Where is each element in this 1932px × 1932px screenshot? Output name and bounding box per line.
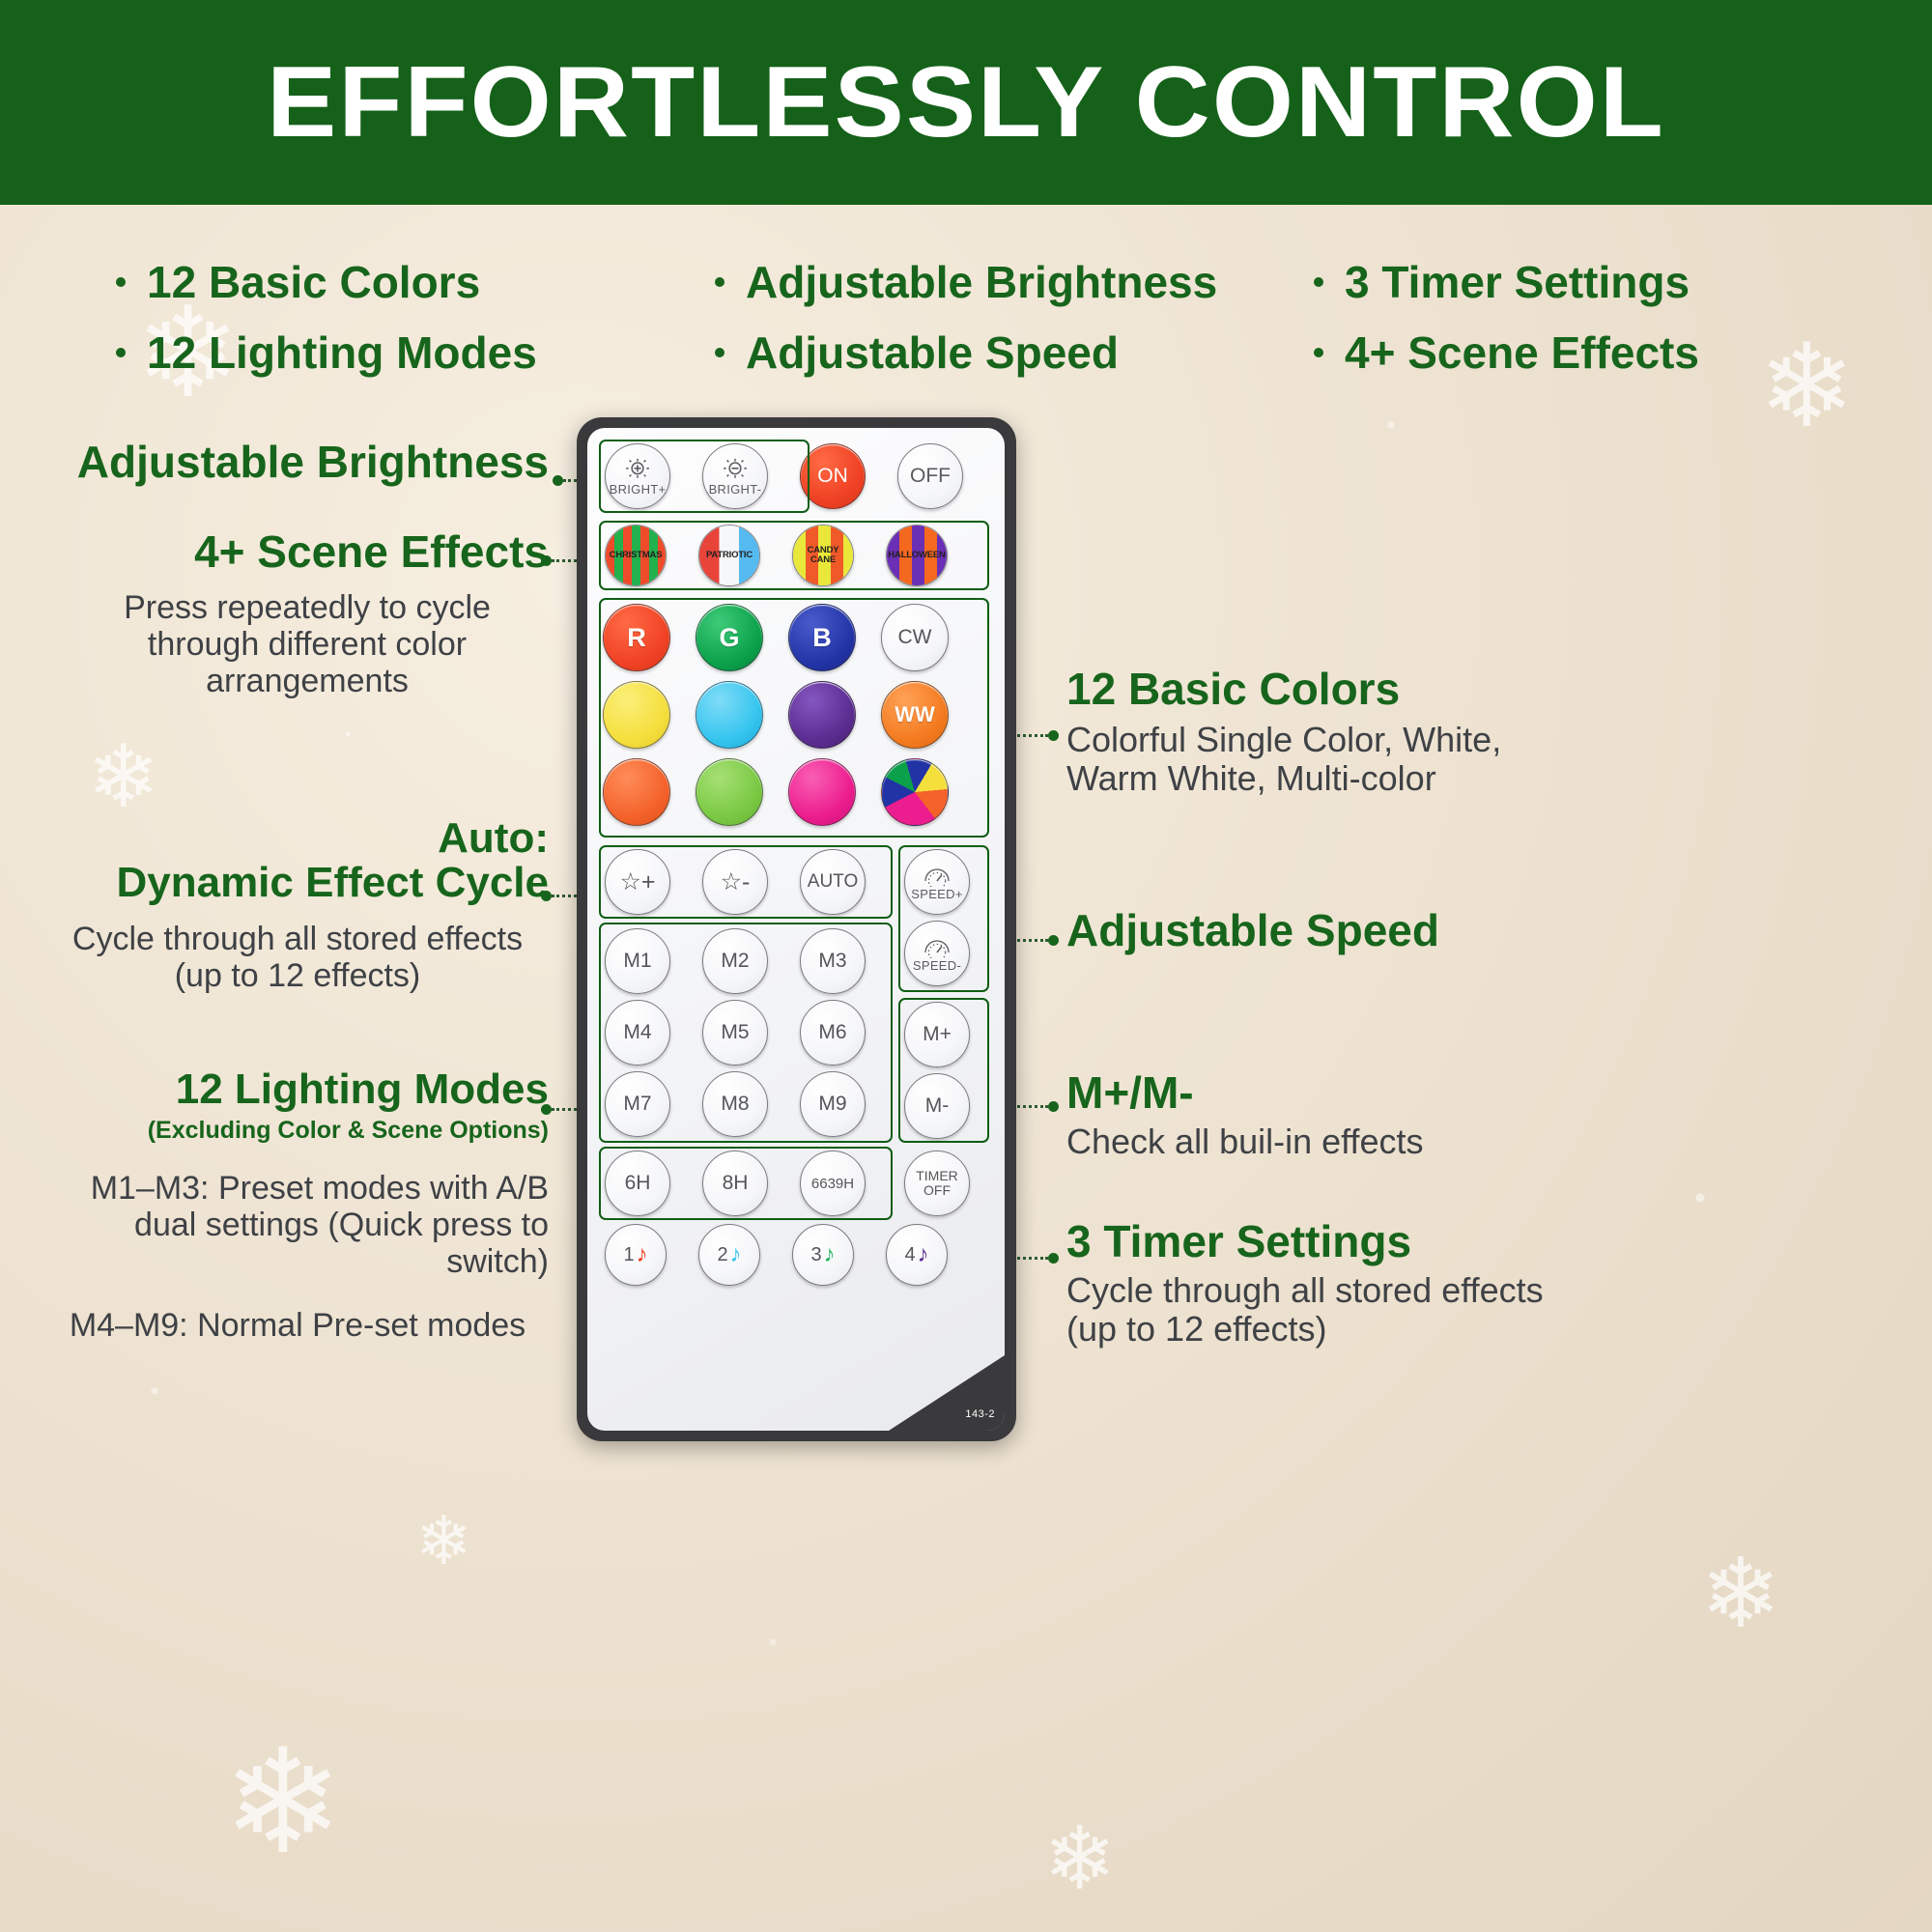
timer-8h-button[interactable]: 8H bbox=[702, 1151, 768, 1216]
leader-dot bbox=[1048, 730, 1059, 741]
bullet-dot bbox=[116, 277, 126, 287]
color-lime-button[interactable] bbox=[696, 758, 763, 826]
speed-plus-button[interactable]: SPEED+ bbox=[904, 849, 970, 915]
mode-m9-label: M9 bbox=[818, 1093, 846, 1116]
callout-subtext: Cycle through all stored effects (up to … bbox=[46, 921, 549, 994]
feature-label: Adjustable Brightness bbox=[746, 256, 1217, 308]
star-plus-button[interactable]: ☆+ bbox=[605, 849, 670, 915]
music-2-label: 2 bbox=[717, 1244, 727, 1266]
color-warm-white-label: WW bbox=[895, 702, 935, 727]
snowflake-icon: ❄ bbox=[415, 1507, 472, 1575]
callout-title: 12 Lighting Modes bbox=[46, 1067, 549, 1112]
color-purple-button[interactable] bbox=[788, 681, 856, 749]
mode-m8-button[interactable]: M8 bbox=[702, 1071, 768, 1137]
callout-m-plus-minus: M+/M- Check all buil-in effects bbox=[1066, 1070, 1569, 1161]
leader-dot bbox=[1048, 1253, 1059, 1264]
callout-title: Adjustable Brightness bbox=[66, 440, 549, 486]
mode-m6-button[interactable]: M6 bbox=[800, 1000, 866, 1065]
bullet-dot bbox=[1314, 277, 1323, 287]
timer-6h-button[interactable]: 6H bbox=[605, 1151, 670, 1216]
color-magenta-button[interactable] bbox=[788, 758, 856, 826]
music-note-icon: ♪ bbox=[637, 1243, 648, 1266]
feature-label: 12 Basic Colors bbox=[147, 256, 480, 308]
bullet-dot bbox=[116, 348, 126, 357]
row-music: 1 ♪ 2 ♪ 3 ♪ 4 ♪ bbox=[605, 1224, 948, 1286]
callout-note-1: M1–M3: Preset modes with A/B dual settin… bbox=[46, 1170, 549, 1280]
sun-plus-icon bbox=[623, 456, 652, 483]
callout-brightness: Adjustable Brightness bbox=[66, 440, 549, 486]
speed-plus-label: SPEED+ bbox=[911, 887, 962, 901]
christmas-button[interactable]: CHRISTMAS bbox=[605, 525, 667, 586]
color-cool-white-button[interactable]: CW bbox=[881, 604, 949, 671]
row-colors-2: WW bbox=[603, 681, 949, 749]
callout-timer: 3 Timer Settings Cycle through all store… bbox=[1066, 1219, 1569, 1349]
mode-m6-label: M6 bbox=[818, 1021, 846, 1044]
mode-m2-label: M2 bbox=[721, 950, 749, 973]
feature-item: 12 Lighting Modes bbox=[116, 320, 715, 384]
bullet-dot bbox=[1314, 348, 1323, 357]
halloween-label: HALLOWEEN bbox=[888, 551, 945, 560]
timer-6h-label: 6H bbox=[625, 1172, 651, 1195]
snowflake-icon: ❄ bbox=[1043, 1816, 1116, 1903]
off-label: OFF bbox=[910, 465, 951, 488]
music-note-icon: ♪ bbox=[824, 1243, 836, 1266]
mode-m4-button[interactable]: M4 bbox=[605, 1000, 670, 1065]
feature-item: Adjustable Speed bbox=[715, 320, 1314, 384]
callout-speed: Adjustable Speed bbox=[1066, 908, 1569, 954]
mode-m4-label: M4 bbox=[623, 1021, 651, 1044]
bright-plus-label: BRIGHT+ bbox=[610, 482, 667, 497]
mode-m9-button[interactable]: M9 bbox=[800, 1071, 866, 1137]
callout-title: 3 Timer Settings bbox=[1066, 1219, 1569, 1265]
snowflake-icon: ❄ bbox=[1700, 1546, 1781, 1642]
off-button[interactable]: OFF bbox=[897, 443, 963, 509]
row-timers: 6H 8H 6639H bbox=[605, 1151, 866, 1216]
feature-label: 3 Timer Settings bbox=[1345, 256, 1690, 308]
callout-subtext: Press repeatedly to cycle through differ… bbox=[66, 589, 549, 699]
color-cyan-button[interactable] bbox=[696, 681, 763, 749]
timer-8h-label: 8H bbox=[723, 1172, 749, 1195]
patriotic-label: PATRIOTIC bbox=[706, 551, 753, 560]
gauge-icon bbox=[922, 864, 952, 887]
callout-title: 12 Basic Colors bbox=[1066, 667, 1530, 713]
color-blue-label: B bbox=[812, 623, 832, 653]
row-modes-3: M7 M8 M9 bbox=[605, 1071, 866, 1137]
row-colors-1: R G B CW bbox=[603, 604, 949, 671]
music-3-label: 3 bbox=[810, 1244, 821, 1266]
leader-dot bbox=[1048, 1101, 1059, 1112]
halloween-button[interactable]: HALLOWEEN bbox=[886, 525, 948, 586]
callout-subtext: Cycle through all stored effects (up to … bbox=[1066, 1271, 1569, 1350]
bright-plus-button[interactable]: BRIGHT+ bbox=[605, 443, 670, 509]
timer-6639h-label: 6639H bbox=[811, 1176, 854, 1192]
sun-minus-icon bbox=[721, 456, 750, 483]
m-minus-wrap: M- bbox=[904, 1073, 970, 1139]
on-button[interactable]: ON bbox=[800, 443, 866, 509]
m-minus-label: M- bbox=[925, 1094, 950, 1118]
music-note-icon: ♪ bbox=[918, 1243, 929, 1266]
christmas-label: CHRISTMAS bbox=[610, 551, 663, 560]
remote-faceplate: BRIGHT+ BRIGHT- ON OFF CHRISTMA bbox=[587, 428, 1005, 1431]
row-colors-3 bbox=[603, 758, 949, 826]
row-power: BRIGHT+ BRIGHT- ON OFF bbox=[605, 443, 963, 509]
timer-off-label: TIMER OFF bbox=[916, 1169, 958, 1199]
feature-label: Adjustable Speed bbox=[746, 327, 1119, 379]
callout-note-2: M4–M9: Normal Pre-set modes bbox=[46, 1307, 549, 1344]
patriotic-button[interactable]: PATRIOTIC bbox=[698, 525, 760, 586]
callout-subtext: Colorful Single Color, White, Warm White… bbox=[1066, 721, 1530, 799]
bullet-dot bbox=[715, 277, 724, 287]
header-banner: EFFORTLESSLY CONTROL bbox=[0, 0, 1932, 205]
color-orange-button[interactable] bbox=[603, 758, 670, 826]
color-green-button[interactable]: G bbox=[696, 604, 763, 671]
color-cool-white-label: CW bbox=[898, 626, 932, 649]
feature-list: 12 Basic Colors Adjustable Brightness 3 … bbox=[116, 249, 1845, 384]
feature-label: 4+ Scene Effects bbox=[1345, 327, 1699, 379]
on-label: ON bbox=[817, 465, 848, 488]
feature-item: 12 Basic Colors bbox=[116, 249, 715, 314]
callout-subtext: Check all buil-in effects bbox=[1066, 1122, 1569, 1161]
row-modes-2: M4 M5 M6 bbox=[605, 1000, 866, 1065]
music-3-button[interactable]: 3 ♪ bbox=[792, 1224, 854, 1286]
mode-m5-label: M5 bbox=[721, 1021, 749, 1044]
feature-label: 12 Lighting Modes bbox=[147, 327, 537, 379]
color-red-button[interactable]: R bbox=[603, 604, 670, 671]
music-1-button[interactable]: 1 ♪ bbox=[605, 1224, 667, 1286]
star-minus-button[interactable]: ☆- bbox=[702, 849, 768, 915]
callout-title-line2: Dynamic Effect Cycle bbox=[46, 861, 549, 905]
feature-item: Adjustable Brightness bbox=[715, 249, 1314, 314]
timer-6639h-button[interactable]: 6639H bbox=[800, 1151, 866, 1216]
speed-minus-label: SPEED- bbox=[913, 958, 961, 973]
bullet-dot bbox=[715, 348, 724, 357]
color-yellow-button[interactable] bbox=[603, 681, 670, 749]
star-minus-label: ☆- bbox=[721, 867, 751, 896]
leader-dot bbox=[553, 475, 563, 486]
color-red-label: R bbox=[627, 623, 646, 653]
color-blue-button[interactable]: B bbox=[788, 604, 856, 671]
candy-cane-label: CANDY CANE bbox=[808, 546, 839, 564]
snowflake-icon: ❄ bbox=[222, 1729, 344, 1874]
auto-button[interactable]: AUTO bbox=[800, 849, 866, 915]
m-plus-button[interactable]: M+ bbox=[904, 1002, 970, 1067]
speed-minus-wrap: SPEED- bbox=[904, 921, 970, 986]
mode-m7-button[interactable]: M7 bbox=[605, 1071, 670, 1137]
m-plus-wrap: M+ bbox=[904, 1002, 970, 1067]
callout-title: M+/M- bbox=[1066, 1070, 1569, 1117]
music-1-label: 1 bbox=[623, 1244, 634, 1266]
m-minus-button[interactable]: M- bbox=[904, 1073, 970, 1139]
leader-dot bbox=[1048, 935, 1059, 946]
mode-m3-button[interactable]: M3 bbox=[800, 928, 866, 994]
mode-m1-label: M1 bbox=[623, 950, 651, 973]
mode-m7-label: M7 bbox=[623, 1093, 651, 1116]
music-2-button[interactable]: 2 ♪ bbox=[698, 1224, 760, 1286]
music-note-icon: ♪ bbox=[730, 1243, 742, 1266]
music-4-label: 4 bbox=[904, 1244, 915, 1266]
callout-title: Adjustable Speed bbox=[1066, 908, 1569, 954]
star-plus-label: ☆+ bbox=[619, 867, 655, 896]
m-plus-label: M+ bbox=[923, 1023, 952, 1046]
auto-label: AUTO bbox=[808, 871, 858, 893]
callout-subtitle: (Excluding Color & Scene Options) bbox=[46, 1118, 549, 1143]
remote-control: BRIGHT+ BRIGHT- ON OFF CHRISTMA bbox=[577, 417, 1016, 1441]
feature-item: 4+ Scene Effects bbox=[1314, 320, 1845, 384]
speed-minus-button[interactable]: SPEED- bbox=[904, 921, 970, 986]
bright-minus-label: BRIGHT- bbox=[709, 482, 762, 497]
mode-m5-button[interactable]: M5 bbox=[702, 1000, 768, 1065]
timer-off-button[interactable]: TIMER OFF bbox=[904, 1151, 970, 1216]
color-green-label: G bbox=[719, 623, 739, 653]
color-warm-white-button[interactable]: WW bbox=[881, 681, 949, 749]
music-4-button[interactable]: 4 ♪ bbox=[886, 1224, 948, 1286]
timer-off-wrap: TIMER OFF bbox=[904, 1151, 970, 1216]
row-scene-effects: CHRISTMAS PATRIOTIC CANDY CANE HALLOWEEN bbox=[605, 525, 948, 586]
mode-m2-button[interactable]: M2 bbox=[702, 928, 768, 994]
gauge-icon bbox=[922, 935, 952, 958]
row-modes-1: M1 M2 M3 bbox=[605, 928, 866, 994]
callout-basic-colors: 12 Basic Colors Colorful Single Color, W… bbox=[1066, 667, 1530, 798]
color-multicolor-button[interactable] bbox=[881, 758, 949, 826]
callout-modes: 12 Lighting Modes (Excluding Color & Sce… bbox=[46, 1067, 549, 1344]
callout-title-line1: Auto: bbox=[46, 816, 549, 861]
callout-scene: 4+ Scene Effects Press repeatedly to cyc… bbox=[66, 529, 549, 699]
candy-cane-button[interactable]: CANDY CANE bbox=[792, 525, 854, 586]
page-title: EFFORTLESSLY CONTROL bbox=[267, 45, 1665, 160]
feature-item: 3 Timer Settings bbox=[1314, 249, 1845, 314]
callout-title: 4+ Scene Effects bbox=[66, 529, 549, 576]
speed-plus-wrap: SPEED+ bbox=[904, 849, 970, 915]
mode-m3-label: M3 bbox=[818, 950, 846, 973]
mode-m1-button[interactable]: M1 bbox=[605, 928, 670, 994]
remote-model-label: 143-2 bbox=[965, 1408, 995, 1420]
callout-auto: Auto: Dynamic Effect Cycle Cycle through… bbox=[46, 816, 549, 994]
snowflake-icon: ❄ bbox=[87, 734, 159, 821]
mode-m8-label: M8 bbox=[721, 1093, 749, 1116]
bright-minus-button[interactable]: BRIGHT- bbox=[702, 443, 768, 509]
row-star-auto: ☆+ ☆- AUTO bbox=[605, 849, 866, 915]
